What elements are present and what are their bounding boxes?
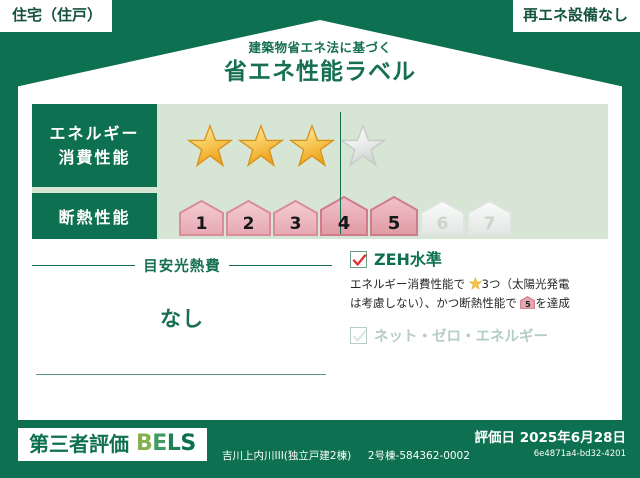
zeh-title: ZEH水準 [374, 252, 442, 268]
insulation-level-2: 2 [226, 200, 271, 236]
energy-label-line2: 消費性能 [58, 146, 130, 169]
insulation-level-7-value: 7 [484, 216, 496, 233]
insulation-level-7: 7 [467, 200, 512, 236]
zeh-description: エネルギー消費性能で 3つ（太陽光発電 は考慮しない）、かつ断熱性能で 5 を達… [350, 275, 608, 312]
renewable-equipment-tag: 再エネ設備なし [513, 0, 640, 32]
star-icon-filled-3 [289, 123, 335, 169]
bels-letter-e: E [152, 431, 167, 456]
star-icon-filled-1 [187, 123, 233, 169]
energy-performance-value-cell [157, 104, 608, 187]
heading-rule-right [229, 265, 332, 266]
dwelling-type-tag: 住宅（住戸） [0, 0, 112, 32]
insulation-level-1-value: 1 [196, 216, 208, 233]
zeh-desc-part4: を達成 [535, 296, 570, 310]
building-name: 吉川上内川III(独立戸建2棟) [222, 450, 351, 462]
zeh-desc-part3: は考慮しない）、かつ断熱性能で [350, 296, 517, 310]
energy-label-line1: エネルギー [49, 122, 139, 145]
utility-cost-heading-text: 目安光熱費 [143, 255, 221, 276]
evaluation-date-label: 評価日 [475, 430, 516, 446]
zeh-checkbox-checked[interactable] [350, 251, 367, 268]
bels-letter-b: B [136, 431, 152, 456]
energy-performance-label: 住宅（住戸） 再エネ設備なし 建築物省エネ法に基づく 省エネ性能ラベル エネルギ… [0, 0, 640, 478]
insulation-level-4: 4 [320, 196, 368, 236]
inline-star-icon [469, 277, 482, 290]
net-zero-energy-row: ネット・ゼロ・エネルギー [350, 325, 608, 346]
evaluation-date-block: 評価日 2025年6月28日 6e4871a4-bd32-4201 [475, 431, 626, 461]
check-icon-faded [352, 329, 367, 344]
star-icon-empty-4 [340, 123, 386, 169]
evaluation-date-line: 評価日 2025年6月28日 [475, 431, 626, 446]
insulation-level-5: 5 [370, 196, 418, 236]
star-icon-filled-2 [238, 123, 284, 169]
evaluation-id: 6e4871a4-bd32-4201 [475, 448, 626, 461]
utility-cost-underline [36, 374, 326, 375]
lower-section: 目安光熱費 なし ZEH水準 エネルギー消費性能で [32, 251, 608, 391]
star-rating [187, 123, 386, 169]
insulation-level-5-value: 5 [388, 215, 401, 233]
net-zero-checkbox-unchecked[interactable] [350, 327, 367, 344]
label-content: エネルギー 消費性能 [32, 104, 608, 404]
insulation-level-1: 1 [179, 200, 224, 236]
title-subtitle: 建築物省エネ法に基づく [0, 40, 640, 55]
insulation-performance-label-cell: 断熱性能 [32, 193, 157, 239]
insulation-level-scale: 1 2 3 [179, 196, 512, 236]
bels-logo-jp: 第三者評価 [29, 434, 129, 454]
evaluation-date-value: 2025年6月28日 [520, 430, 626, 446]
zeh-block: ZEH水準 エネルギー消費性能で 3つ（太陽光発電 は考慮しない）、かつ断熱性能… [332, 251, 608, 391]
insulation-level-3: 3 [273, 200, 318, 236]
insulation-level-2-value: 2 [243, 216, 255, 233]
utility-cost-value: なし [32, 303, 332, 333]
page-title: 建築物省エネ法に基づく 省エネ性能ラベル [0, 40, 640, 87]
utility-cost-heading: 目安光熱費 [32, 251, 332, 276]
heading-rule-left [32, 265, 135, 266]
insulation-level-4-value: 4 [338, 215, 351, 233]
bels-letter-l: L [167, 431, 181, 456]
bels-logo: 第三者評価 BELS [18, 428, 207, 461]
insulation-performance-row: 断熱性能 1 [32, 193, 608, 239]
zeh-desc-part2: 3つ（太陽光発電 [482, 277, 570, 291]
inline-badge-value: 5 [520, 301, 535, 309]
energy-performance-label-cell: エネルギー 消費性能 [32, 104, 157, 187]
bels-logo-en: BELS [136, 433, 196, 455]
insulation-level-6: 6 [420, 200, 465, 236]
building-info: 吉川上内川III(独立戸建2棟) 2号棟-584362-0002 [222, 448, 470, 463]
net-zero-energy-title: ネット・ゼロ・エネルギー [374, 325, 548, 346]
inline-insulation-badge-icon: 5 [520, 296, 535, 309]
utility-cost-block: 目安光熱費 なし [32, 251, 332, 391]
insulation-level-6-value: 6 [437, 216, 449, 233]
bels-letter-s: S [180, 431, 195, 456]
check-icon [352, 253, 367, 268]
insulation-level-3-value: 3 [290, 216, 302, 233]
energy-performance-row: エネルギー 消費性能 [32, 104, 608, 187]
zeh-header: ZEH水準 [350, 251, 608, 268]
title-main: 省エネ性能ラベル [0, 58, 640, 87]
insulation-label: 断熱性能 [58, 204, 130, 228]
zeh-desc-part1: エネルギー消費性能で [350, 277, 465, 291]
unit-code: 2号棟-584362-0002 [368, 450, 470, 462]
footer: 第三者評価 BELS 吉川上内川III(独立戸建2棟) 2号棟-584362-0… [0, 420, 640, 478]
insulation-performance-value-cell: 1 2 3 [157, 193, 608, 239]
